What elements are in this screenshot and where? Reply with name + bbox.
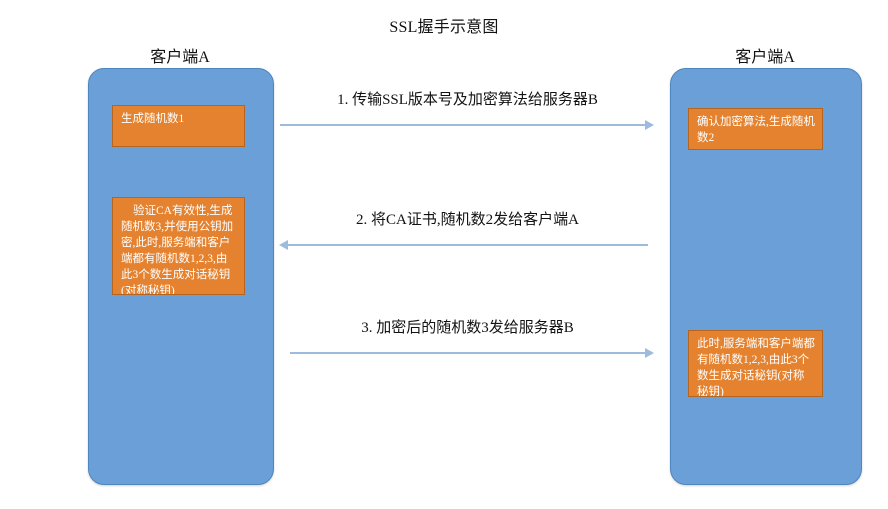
step-2-arrow-line [288, 244, 648, 246]
step-2-arrow-head-left-icon [279, 240, 288, 250]
note-left-verify-ca-generate-random-3: 验证CA有效性,生成随机数3,并使用公钥加密,此时,服务端和客户端都有随机数1,… [112, 197, 245, 295]
diagram-title: SSL握手示意图 [0, 13, 888, 37]
step-1-label: 1. 传输SSL版本号及加密算法给服务器B [280, 88, 655, 109]
step-3-arrow-line [290, 352, 648, 354]
note-left-generate-random-1: 生成随机数1 [112, 105, 245, 147]
ssl-handshake-diagram: SSL握手示意图 客户端A 客户端A 生成随机数1 验证CA有效性,生成随机数3… [0, 0, 888, 509]
step-3-arrow-head-right-icon [645, 348, 654, 358]
party-label-right: 客户端A [665, 43, 865, 67]
step-1-arrow-head-right-icon [645, 120, 654, 130]
step-1-arrow-line [280, 124, 648, 126]
party-label-left: 客户端A [80, 43, 280, 67]
step-2-label: 2. 将CA证书,随机数2发给客户端A [280, 208, 655, 229]
step-3-label: 3. 加密后的随机数3发给服务器B [280, 316, 655, 337]
note-right-session-key-derivation: 此时,服务端和客户端都有随机数1,2,3,由此3个数生成对话秘钥(对称秘钥) [688, 330, 823, 397]
note-right-confirm-algorithm-generate-random-2: 确认加密算法,生成随机数2 [688, 108, 823, 150]
